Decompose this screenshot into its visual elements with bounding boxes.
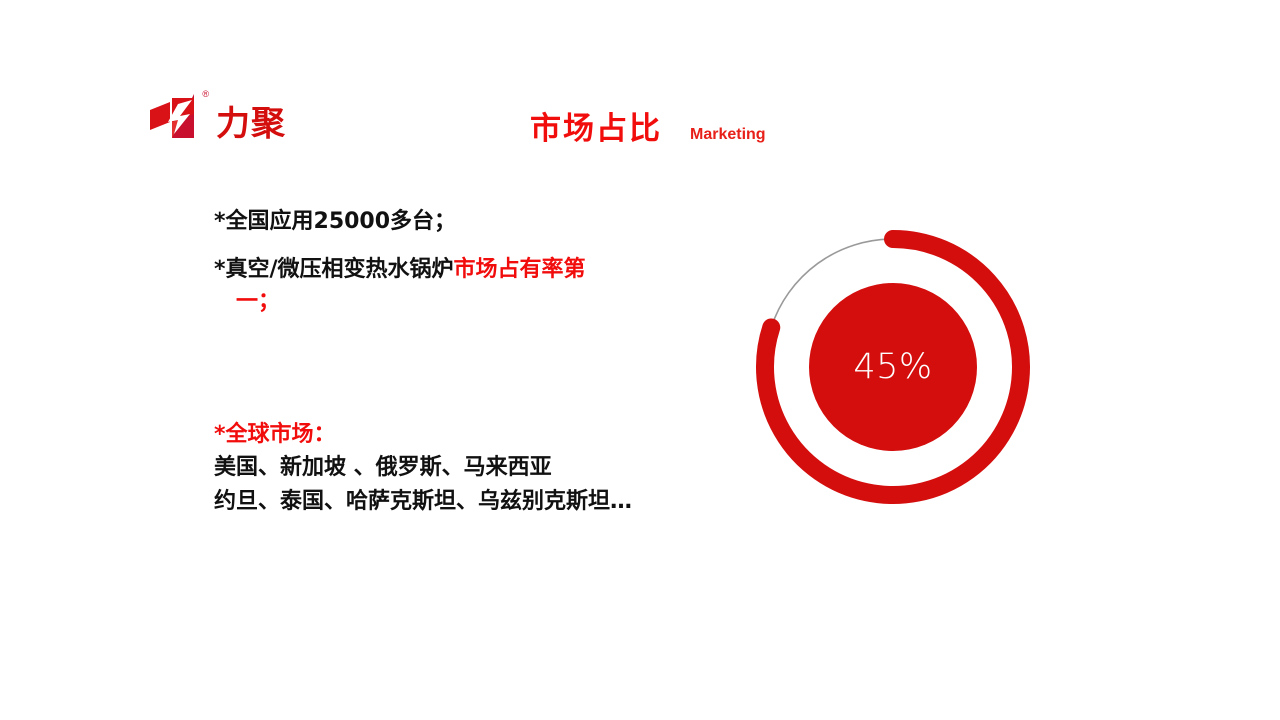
slide-canvas: ® 力聚 市场占比 Marketing *全国应用25000多台； *真空/微压… [0,0,1280,720]
bullet-item-2: *真空/微压相变热水锅炉市场占有率第 一； [214,254,714,318]
logo-wordmark: 力聚 [216,107,286,141]
market-share-donut-chart: 45% [753,227,1033,507]
bullet-2-highlight: 市场占有率第 [454,257,586,282]
bullet-1-text: *全国应用25000多台； [214,209,456,234]
global-market-line-1: 美国、新加坡 、俄罗斯、马来西亚 [214,451,774,485]
page-title-row: 市场占比 Marketing [530,112,766,146]
liju-lightning-mark-icon: ® [148,92,210,144]
page-title: 市场占比 [530,112,662,146]
global-market-heading: *全球市场： [214,418,774,451]
bullet-item-1: *全国应用25000多台； [214,206,714,238]
page-subtitle: Marketing [690,126,766,144]
registered-trademark-icon: ® [202,90,209,99]
global-market-line-2: 约旦、泰国、哈萨克斯坦、乌兹别克斯坦… [214,485,774,519]
bullet-list: *全国应用25000多台； *真空/微压相变热水锅炉市场占有率第 一； [214,206,714,334]
bullet-2-wrap-line: 一； [214,286,714,318]
donut-inner-disc [809,283,977,451]
bullet-2-text: *真空/微压相变热水锅炉 [214,257,454,282]
company-logo: ® 力聚 [148,88,408,144]
global-market-block: *全球市场： 美国、新加坡 、俄罗斯、马来西亚 约旦、泰国、哈萨克斯坦、乌兹别克… [214,418,774,519]
